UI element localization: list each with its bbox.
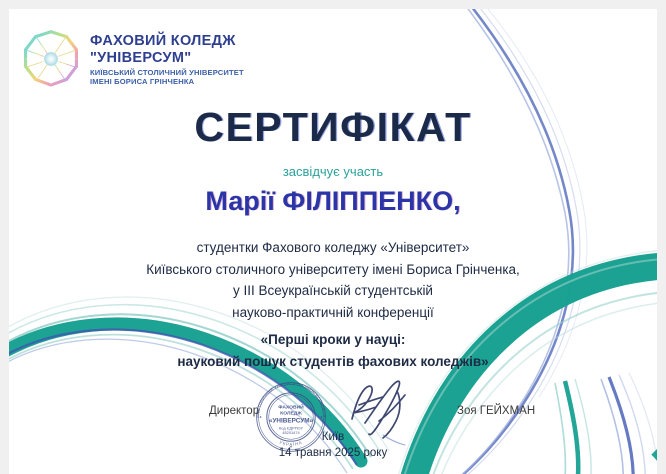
director-name: Зоя ГЕЙХМАН bbox=[457, 405, 535, 417]
universum-starburst-emblem bbox=[20, 28, 82, 90]
body-line: Київського столичного університету імені… bbox=[9, 259, 657, 281]
certificate-title: СЕРТИФІКАТ bbox=[9, 104, 657, 151]
body-line: у III Всеукраїнській студентській bbox=[9, 280, 657, 302]
logo-college-line2: "УНІВЕРСУМ" bbox=[90, 50, 244, 66]
body-line: науково-практичній конференції bbox=[9, 302, 657, 324]
date-label: 14 травня 2025 року bbox=[9, 445, 657, 461]
city-label: Київ bbox=[9, 429, 657, 445]
certificate-page: ФАХОВИЙ КОЛЕДЖ "УНІВЕРСУМ" КИЇВСЬКИЙ СТО… bbox=[9, 9, 657, 474]
logo-university-line1: КИЇВСЬКИЙ СТОЛИЧНИЙ УНІВЕРСИТЕТ bbox=[90, 68, 244, 77]
body-line: науковий пошук студентів фахових коледжі… bbox=[9, 351, 657, 373]
body-line: «Перші кроки у науці: bbox=[9, 329, 657, 351]
awards-label: засвідчує участь bbox=[9, 164, 657, 179]
college-logo: ФАХОВИЙ КОЛЕДЖ "УНІВЕРСУМ" КИЇВСЬКИЙ СТО… bbox=[20, 28, 244, 90]
body-line: студентки Фахового коледжу «Університет» bbox=[9, 237, 657, 259]
certificate-body: студентки Фахового коледжу «Університет»… bbox=[9, 237, 657, 372]
signature-row: Директор Зоя ГЕЙХМАН bbox=[9, 405, 657, 427]
recipient-name: Марії ФІЛІППЕНКО, bbox=[9, 186, 657, 217]
place-and-date: Київ 14 травня 2025 року bbox=[9, 429, 657, 461]
director-label: Директор bbox=[209, 405, 259, 417]
logo-university-line2: ІМЕНІ БОРИСА ГРІНЧЕНКА bbox=[90, 77, 244, 86]
logo-college-line1: ФАХОВИЙ КОЛЕДЖ bbox=[90, 33, 244, 49]
